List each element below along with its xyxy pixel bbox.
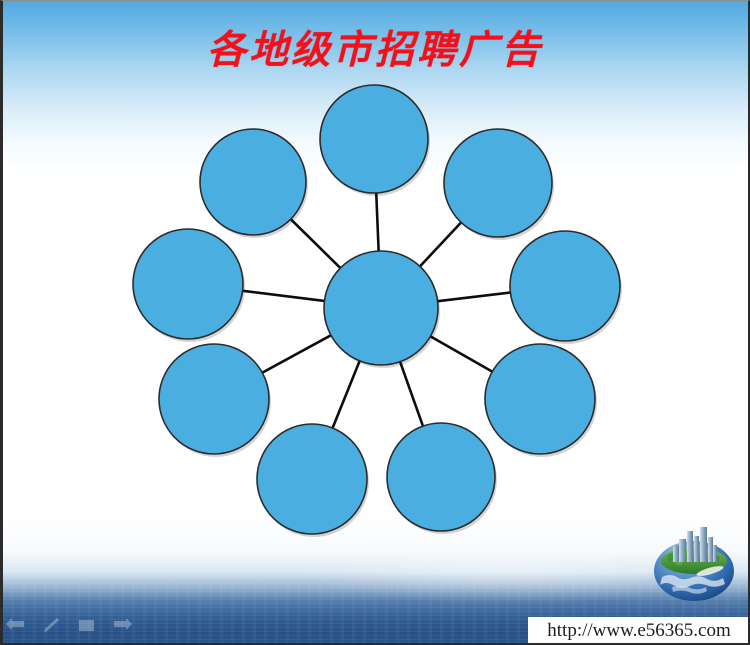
- eco-city-globe-logo: [646, 519, 742, 605]
- watermark-url: http://www.e56365.com: [547, 620, 730, 642]
- spoke-node-2[interactable]: [444, 129, 552, 237]
- hub-node[interactable]: [324, 251, 438, 365]
- spoke-node-4[interactable]: [485, 344, 595, 454]
- spoke-line-4: [429, 335, 494, 372]
- player-controls[interactable]: [6, 614, 126, 638]
- next-icon[interactable]: [112, 618, 132, 634]
- pen-icon[interactable]: [42, 618, 62, 634]
- spoke-line-7: [261, 334, 333, 373]
- hub-and-spoke-diagram: [0, 0, 750, 645]
- spoke-line-1: [376, 191, 379, 253]
- spoke-line-9: [289, 218, 341, 270]
- spoke-line-8: [241, 291, 327, 302]
- previous-icon[interactable]: [6, 618, 26, 634]
- spoke-node-8[interactable]: [133, 229, 243, 339]
- spoke-node-6[interactable]: [257, 424, 367, 534]
- spoke-node-3[interactable]: [510, 231, 620, 341]
- diagram-svg: [0, 0, 750, 645]
- spoke-line-2: [419, 221, 463, 268]
- stop-icon[interactable]: [78, 618, 96, 634]
- city-skyline: [673, 527, 717, 562]
- spoke-line-3: [436, 292, 513, 301]
- spoke-node-9[interactable]: [200, 129, 306, 235]
- slide-canvas: 各地级市招聘广告: [0, 0, 750, 645]
- node-circle-group: [133, 85, 620, 534]
- watermark-bar: http://www.e56365.com: [528, 617, 750, 645]
- spoke-node-5[interactable]: [387, 423, 495, 531]
- spoke-line-5: [399, 360, 423, 428]
- spoke-node-1[interactable]: [320, 85, 428, 193]
- spoke-node-7[interactable]: [159, 344, 269, 454]
- spoke-line-6: [332, 359, 361, 430]
